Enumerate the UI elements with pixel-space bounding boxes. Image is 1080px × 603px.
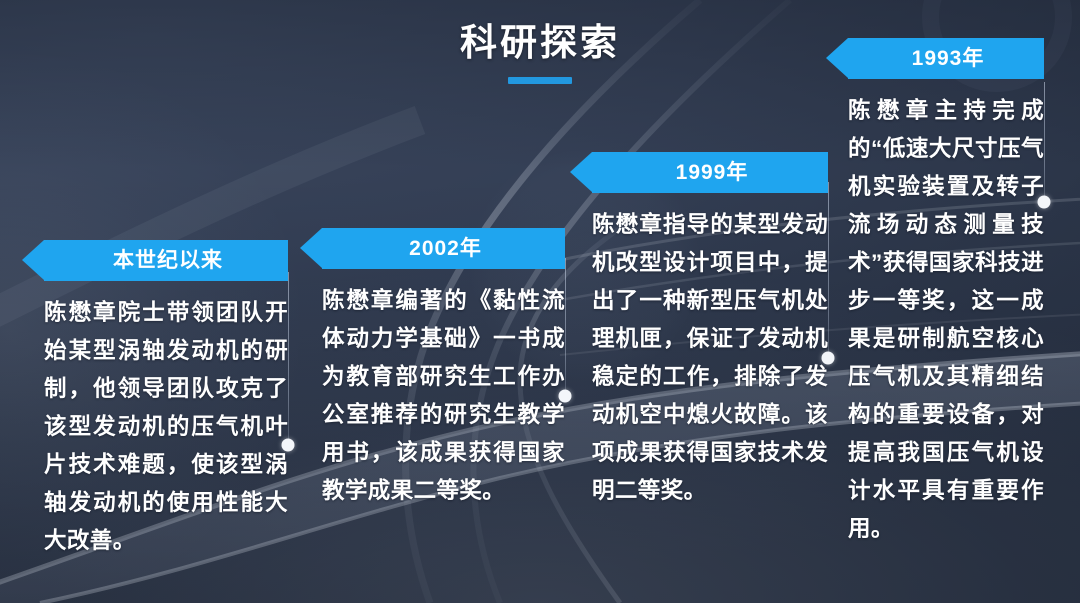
timeline-badge-3[interactable]: 1999年 [592,152,828,193]
column-divider-4 [1044,82,1045,202]
page-title: 科研探索 [460,24,620,61]
slide-header: 科研探索 [0,24,1080,84]
timeline-text-3: 陈懋章指导的某型发动机改型设计项目中，提出了一种新型压气机处理机匣，保证了发动机… [592,206,828,510]
timeline-text-2: 陈懋章编著的《黏性流体动力学基础》一书成为教育部研究生工作办公室推荐的研究生教学… [322,282,565,510]
column-divider-2 [565,258,566,396]
timeline-text-4: 陈懋章主持完成的“低速大尺寸压气机实验装置及转子流场动态测量技术”获得国家科技进… [848,92,1044,548]
timeline-column-1: 本世纪以来 陈懋章院士带领团队开始某型涡轴发动机的研制，他领导团队攻克了该型发动… [44,240,288,560]
slide-canvas: 科研探索 本世纪以来 陈懋章院士带领团队开始某型涡轴发动机的研制，他领导团队攻克… [0,0,1080,603]
column-divider-1 [288,272,289,445]
timeline-badge-2[interactable]: 2002年 [322,228,565,269]
timeline-column-4: 1993年 陈懋章主持完成的“低速大尺寸压气机实验装置及转子流场动态测量技术”获… [848,38,1044,548]
timeline-badge-1[interactable]: 本世纪以来 [44,240,288,281]
timeline-column-2: 2002年 陈懋章编著的《黏性流体动力学基础》一书成为教育部研究生工作办公室推荐… [322,228,565,510]
timeline-column-3: 1999年 陈懋章指导的某型发动机改型设计项目中，提出了一种新型压气机处理机匣，… [592,152,828,510]
timeline-text-1: 陈懋章院士带领团队开始某型涡轴发动机的研制，他领导团队攻克了该型发动机的压气机叶… [44,294,288,560]
title-underline [508,77,572,84]
column-divider-3 [828,182,829,358]
